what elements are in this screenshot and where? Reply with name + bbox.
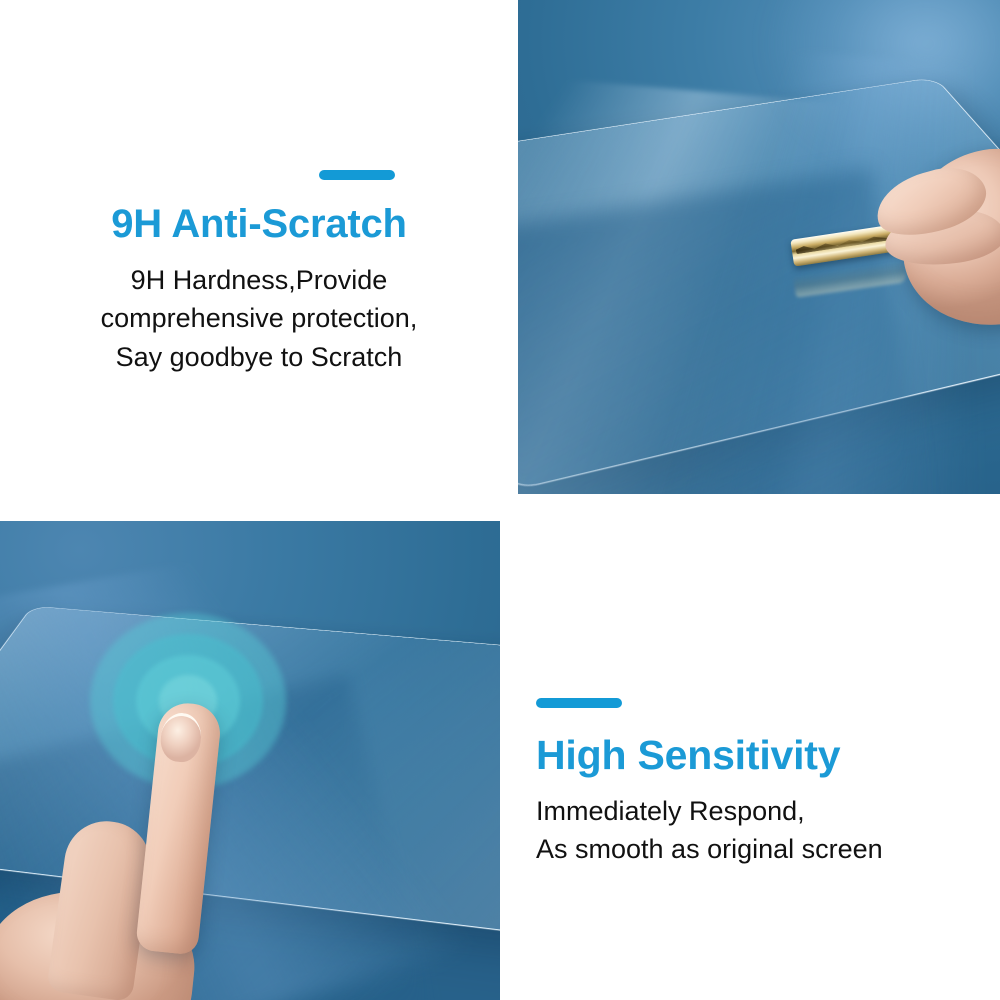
subtitle-line: Immediately Respond, [536,793,883,831]
subtitle-line: 9H Hardness,Provide [101,261,418,299]
anti-scratch-photo-panel [518,0,1000,494]
accent-bar-icon [319,170,395,180]
accent-bar-icon [536,698,622,708]
hand-touching-screen [20,703,320,1000]
anti-scratch-subtitle: 9H Hardness,Provide comprehensive protec… [101,261,418,376]
high-sensitivity-text-block: High Sensitivity Immediately Respond, As… [500,500,1000,1000]
anti-scratch-headline: 9H Anti-Scratch [111,202,407,247]
subtitle-line: As smooth as original screen [536,831,883,869]
hand-holding-blade [873,120,1000,335]
high-sensitivity-headline: High Sensitivity [536,732,840,779]
product-feature-collage: 9H Anti-Scratch 9H Hardness,Provide comp… [0,0,1000,1000]
subtitle-line: Say goodbye to Scratch [101,338,418,376]
anti-scratch-text-block: 9H Anti-Scratch 9H Hardness,Provide comp… [0,0,518,500]
high-sensitivity-photo-panel [0,521,500,1000]
subtitle-line: comprehensive protection, [101,299,418,337]
high-sensitivity-subtitle: Immediately Respond, As smooth as origin… [536,793,883,869]
glass-shadow-wedge [518,168,931,494]
